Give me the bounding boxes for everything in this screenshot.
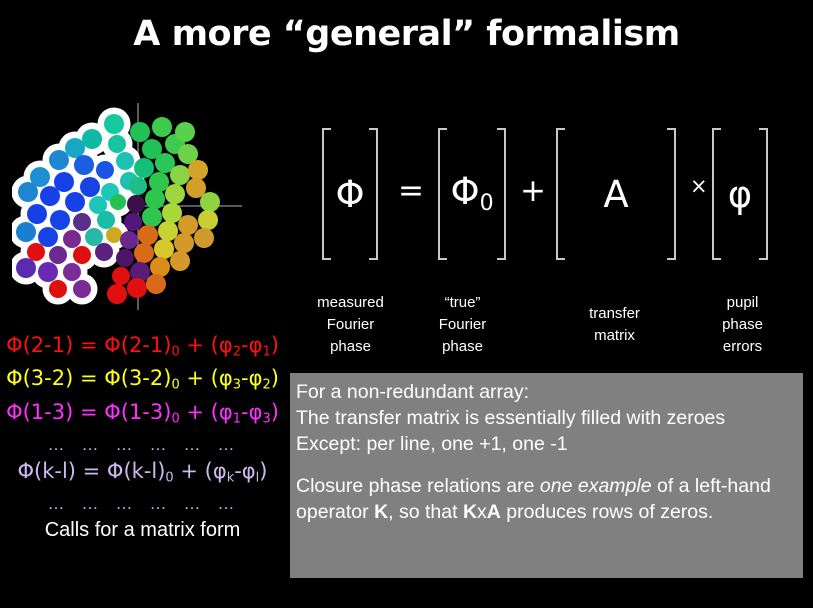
ellipsis-row: ……………… bbox=[0, 432, 285, 458]
note-times: x bbox=[477, 501, 487, 523]
ellipsis: … bbox=[116, 494, 136, 513]
uv-point bbox=[65, 192, 85, 212]
ellipsis: … bbox=[218, 435, 238, 454]
uv-point bbox=[73, 246, 91, 264]
eq-lhs: Φ(1-3) = Φ(1-3) bbox=[6, 400, 171, 424]
eq-minus: -φ bbox=[241, 333, 262, 357]
uv-point bbox=[134, 158, 154, 178]
eq-sub-zero: 0 bbox=[171, 411, 179, 426]
eq-plus: + (φ bbox=[180, 366, 233, 390]
eq-sub-a: 1 bbox=[233, 411, 241, 426]
uv-point bbox=[124, 213, 142, 231]
uv-point bbox=[50, 210, 70, 230]
matrix-subscript: 0 bbox=[480, 191, 494, 216]
slide-root: A more “general” formalism ΦΦ0Aφ=+× Φ(2-… bbox=[0, 0, 813, 608]
uv-point bbox=[73, 280, 91, 298]
uv-point bbox=[134, 243, 154, 263]
note-text-d: produces rows of zeros. bbox=[501, 501, 713, 523]
eq-sub-zero: 0 bbox=[171, 344, 179, 359]
eq-lhs: Φ(2-1) = Φ(2-1) bbox=[6, 333, 171, 357]
caption-line: matrix bbox=[562, 325, 667, 347]
note-line-3: Except: per line, one +1, one -1 bbox=[296, 431, 795, 457]
uv-point bbox=[80, 177, 100, 197]
eq-minus: -φ bbox=[234, 459, 255, 483]
eq-sub-b: 1 bbox=[262, 344, 270, 359]
caption-line: phase bbox=[410, 336, 515, 358]
uv-point bbox=[150, 257, 170, 277]
note-operator-k2: K bbox=[463, 501, 477, 523]
page-title: A more “general” formalism bbox=[0, 14, 813, 54]
uv-point bbox=[145, 189, 165, 209]
uv-point bbox=[194, 228, 214, 248]
uv-point bbox=[154, 239, 174, 259]
matrix-bracket-4: φ bbox=[712, 128, 768, 260]
eq-sub-zero: 0 bbox=[165, 470, 173, 485]
matrix-symbol: Φ bbox=[335, 176, 364, 213]
calls-for-matrix-form-text: Calls for a matrix form bbox=[0, 519, 285, 542]
note-operator-k: K bbox=[374, 501, 388, 523]
equation-caption-3: transfermatrix bbox=[562, 303, 667, 347]
uv-point bbox=[130, 122, 150, 142]
eq-sub-b: 2 bbox=[262, 378, 270, 393]
eq-sub-b: 3 bbox=[262, 411, 270, 426]
uv-point bbox=[73, 213, 91, 231]
caption-line: phase bbox=[690, 314, 795, 336]
eq-minus: -φ bbox=[241, 400, 262, 424]
eq-plus: + (φ bbox=[180, 333, 233, 357]
uv-point bbox=[38, 227, 58, 247]
closure-equation-line-3: Φ(1-3) = Φ(1-3)0 + (φ1-φ3) bbox=[0, 399, 285, 432]
eq-close: ) bbox=[271, 400, 279, 424]
equation-caption-2: “true”Fourierphase bbox=[410, 292, 515, 358]
uv-point bbox=[110, 194, 126, 210]
note-line-1: For a non-redundant array: bbox=[296, 379, 795, 405]
operator-plus: + bbox=[520, 176, 546, 207]
note-paragraph-2: Closure phase relations are one example … bbox=[296, 473, 795, 525]
eq-lhs: Φ(3-2) = Φ(3-2) bbox=[6, 366, 171, 390]
uv-point bbox=[200, 192, 220, 212]
uv-point bbox=[74, 155, 94, 175]
eq-sub-zero: 0 bbox=[171, 378, 179, 393]
uv-point bbox=[162, 203, 182, 223]
caption-line: phase bbox=[298, 336, 403, 358]
uv-point bbox=[152, 117, 172, 137]
eq-close: ) bbox=[271, 366, 279, 390]
uv-point bbox=[127, 195, 145, 213]
operator-equals: = bbox=[398, 176, 424, 207]
ellipsis: … bbox=[218, 494, 238, 513]
ellipsis: … bbox=[150, 494, 170, 513]
eq-plus: + (φ bbox=[180, 400, 233, 424]
uv-point bbox=[175, 122, 195, 142]
uv-point bbox=[149, 172, 169, 192]
uv-point bbox=[129, 177, 147, 195]
ellipsis: … bbox=[48, 494, 68, 513]
eq-sub-a: 3 bbox=[233, 378, 241, 393]
eq-plus: + (φ bbox=[174, 459, 227, 483]
uv-point bbox=[174, 233, 194, 253]
note-emphasis: one example bbox=[540, 475, 652, 497]
uv-point bbox=[96, 161, 114, 179]
ellipsis: … bbox=[82, 435, 102, 454]
uv-point bbox=[49, 280, 67, 298]
uv-point bbox=[106, 227, 122, 243]
uv-point bbox=[97, 211, 115, 229]
uv-point bbox=[138, 225, 158, 245]
uv-point bbox=[63, 230, 81, 248]
uv-point bbox=[16, 258, 36, 278]
caption-line: measured bbox=[298, 292, 403, 314]
note-paragraph-gap bbox=[296, 457, 795, 473]
uv-point bbox=[49, 150, 69, 170]
matrix-term-1: Φ bbox=[322, 128, 378, 260]
matrix-bracket-2: Φ0 bbox=[438, 128, 506, 260]
uv-point bbox=[38, 262, 58, 282]
uv-point bbox=[178, 215, 198, 235]
uv-point bbox=[146, 274, 166, 294]
matrix-symbol: Φ0 bbox=[450, 173, 493, 215]
uv-point bbox=[120, 231, 138, 249]
uv-point bbox=[95, 243, 113, 261]
matrix-bracket-1: Φ bbox=[322, 128, 378, 260]
uv-point bbox=[170, 165, 190, 185]
note-line-2: The transfer matrix is essentially fille… bbox=[296, 405, 795, 431]
uv-point bbox=[116, 249, 134, 267]
operator-times: × bbox=[690, 176, 708, 197]
ellipsis: … bbox=[116, 435, 136, 454]
ellipsis: … bbox=[184, 494, 204, 513]
uv-coverage-scatter bbox=[12, 92, 277, 327]
uv-point bbox=[16, 222, 36, 242]
caption-line: “true” bbox=[410, 292, 515, 314]
ellipsis: … bbox=[48, 435, 68, 454]
eq-close: ) bbox=[271, 333, 279, 357]
ellipsis: … bbox=[184, 435, 204, 454]
uv-point bbox=[165, 184, 185, 204]
eq-sub-a: 2 bbox=[233, 344, 241, 359]
uv-point bbox=[104, 114, 124, 134]
uv-point bbox=[18, 182, 38, 202]
uv-point bbox=[82, 129, 102, 149]
uv-point bbox=[40, 186, 60, 206]
eq-close: ) bbox=[259, 459, 267, 483]
uv-point bbox=[112, 267, 130, 285]
uv-point bbox=[49, 246, 67, 264]
caption-line: transfer bbox=[562, 303, 667, 325]
ellipsis-row: ……………… bbox=[0, 491, 285, 517]
caption-line: pupil bbox=[690, 292, 795, 314]
closure-equation-line-1: Φ(2-1) = Φ(2-1)0 + (φ2-φ1) bbox=[0, 332, 285, 365]
matrix-term-2: Φ0 bbox=[438, 128, 506, 260]
uv-point bbox=[27, 204, 47, 224]
closure-phase-equations: Φ(2-1) = Φ(2-1)0 + (φ2-φ1)Φ(3-2) = Φ(3-2… bbox=[0, 332, 285, 517]
note-operator-a: A bbox=[487, 501, 501, 523]
note-text-a: Closure phase relations are bbox=[296, 475, 540, 497]
matrix-symbol: A bbox=[603, 176, 628, 213]
uv-point bbox=[107, 284, 127, 304]
caption-line: Fourier bbox=[298, 314, 403, 336]
uv-point bbox=[127, 278, 147, 298]
caption-line: errors bbox=[690, 336, 795, 358]
matrix-equation: ΦΦ0Aφ=+× bbox=[300, 128, 800, 278]
uv-point bbox=[65, 138, 85, 158]
eq-lhs: Φ(k-l) = Φ(k-l) bbox=[17, 459, 165, 483]
uv-point bbox=[158, 221, 178, 241]
matrix-bracket-3: A bbox=[556, 128, 676, 260]
explanation-note-box: For a non-redundant array: The transfer … bbox=[290, 373, 803, 578]
equation-caption-1: measuredFourierphase bbox=[298, 292, 403, 358]
closure-equation-line-2: Φ(3-2) = Φ(3-2)0 + (φ3-φ2) bbox=[0, 365, 285, 398]
equation-caption-4: pupilphaseerrors bbox=[690, 292, 795, 358]
uv-point bbox=[170, 251, 190, 271]
matrix-symbol: φ bbox=[728, 176, 752, 213]
uv-point bbox=[85, 228, 103, 246]
closure-equation-line-4: Φ(k-l) = Φ(k-l)0 + (φk-φl) bbox=[0, 458, 285, 491]
uv-point bbox=[188, 160, 208, 180]
note-text-c: , so that bbox=[388, 501, 463, 523]
ellipsis: … bbox=[150, 435, 170, 454]
uv-point bbox=[27, 243, 45, 261]
uv-point bbox=[108, 135, 126, 153]
ellipsis: … bbox=[82, 494, 102, 513]
matrix-term-4: φ bbox=[712, 128, 768, 260]
uv-point bbox=[142, 207, 162, 227]
eq-minus: -φ bbox=[241, 366, 262, 390]
uv-coverage-plot bbox=[12, 92, 277, 327]
uv-point bbox=[198, 210, 218, 230]
matrix-term-3: A bbox=[556, 128, 676, 260]
uv-point bbox=[116, 152, 134, 170]
caption-line: Fourier bbox=[410, 314, 515, 336]
uv-point bbox=[63, 263, 81, 281]
